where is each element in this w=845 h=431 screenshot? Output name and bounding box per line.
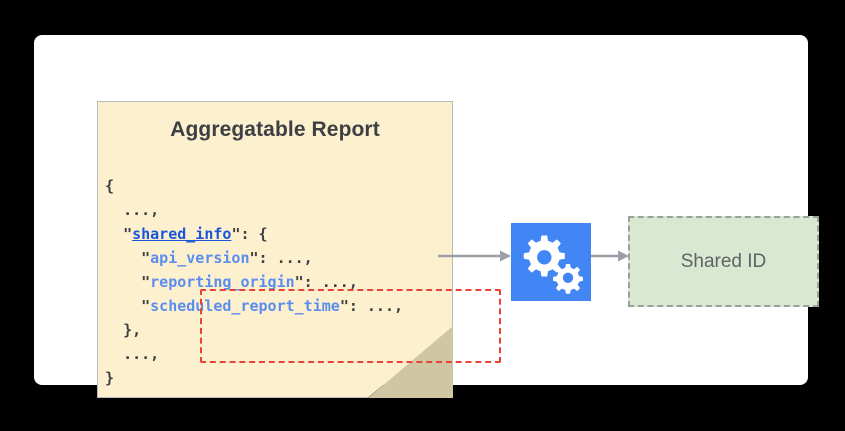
arrow-fields-to-processor: [438, 249, 512, 267]
shared-id-box: Shared ID: [628, 216, 819, 307]
code-token: ": [141, 297, 150, 315]
code-token: ": {: [231, 225, 267, 243]
code-token: api_version: [150, 249, 249, 267]
gears-icon: [511, 223, 591, 301]
code-token: },: [123, 321, 141, 339]
code-token: ": [141, 273, 150, 291]
code-token: ": [141, 249, 150, 267]
code-token: ": [123, 225, 132, 243]
diagram-canvas: Aggregatable Report { ..., "shared_info"…: [0, 0, 845, 431]
code-token: shared_info: [132, 225, 231, 243]
code-token: {: [105, 177, 114, 195]
code-token: ": ...,: [250, 249, 313, 267]
document-title: Aggregatable Report: [97, 118, 453, 142]
shared-info-fields-highlight: [200, 289, 501, 363]
code-token: ...,: [123, 345, 159, 363]
aggregatable-report-document: Aggregatable Report { ..., "shared_info"…: [97, 101, 453, 398]
arrow-processor-to-shared-id: [591, 249, 630, 267]
shared-id-label: Shared ID: [681, 251, 767, 273]
processor-gears-tile: [511, 223, 591, 301]
code-token: ...,: [123, 201, 159, 219]
code-token: }: [105, 369, 114, 387]
diagram-card: Aggregatable Report { ..., "shared_info"…: [34, 35, 808, 385]
